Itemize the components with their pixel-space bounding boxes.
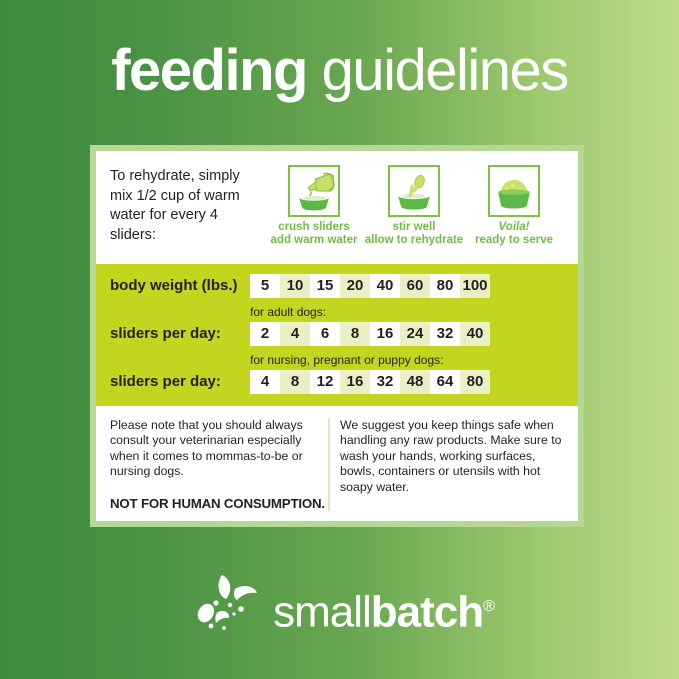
note-left-paragraph: Please note that you should always consu… bbox=[110, 418, 316, 480]
full-food-bowl-icon bbox=[490, 167, 538, 215]
table-cell: 80 bbox=[430, 274, 460, 298]
row-label-sliders-nursing: sliders per day: bbox=[110, 373, 250, 390]
row-label-body-weight: body weight (lbs.) bbox=[110, 277, 250, 294]
step-3-caption: Voila! ready to serve bbox=[464, 221, 564, 247]
notes-section: Please note that you should always consu… bbox=[96, 406, 578, 522]
table-cell: 8 bbox=[340, 322, 370, 346]
table-cell: 24 bbox=[400, 322, 430, 346]
row-label-sliders-adult: sliders per day: bbox=[110, 325, 250, 342]
note-left-emphasis: NOT FOR HUMAN CONSUMPTION. bbox=[110, 496, 316, 512]
step-3-icon-box bbox=[488, 165, 540, 217]
step-crush-sliders: crush sliders add warm water bbox=[264, 165, 364, 247]
step-2-caption: stir well allow to rehydrate bbox=[364, 221, 464, 247]
table-cell: 40 bbox=[370, 274, 400, 298]
table-cell: 4 bbox=[280, 322, 310, 346]
table-cell: 32 bbox=[370, 370, 400, 394]
table-cell: 15 bbox=[310, 274, 340, 298]
table-cell: 4 bbox=[250, 370, 280, 394]
steps-row: crush sliders add warm water bbox=[258, 165, 564, 256]
row-cells-sliders-nursing: 4 8 12 16 32 48 64 80 bbox=[250, 370, 490, 394]
table-cell: 12 bbox=[310, 370, 340, 394]
sublabel-row-nursing: for nursing, pregnant or puppy dogs: bbox=[110, 348, 564, 368]
table-cell: 20 bbox=[340, 274, 370, 298]
table-cell: 48 bbox=[400, 370, 430, 394]
table-cell: 10 bbox=[280, 274, 310, 298]
table-row: sliders per day: 4 8 12 16 32 48 64 80 bbox=[110, 368, 564, 396]
page-title-bold: feeding bbox=[111, 38, 307, 103]
table-row: body weight (lbs.) 5 10 15 20 40 60 80 1… bbox=[110, 272, 564, 300]
step-2-caption-line2: allow to rehydrate bbox=[364, 234, 464, 247]
step-1-caption-line1: crush sliders bbox=[264, 221, 364, 234]
rehydrate-section: To rehydrate, simply mix 1/2 cup of warm… bbox=[96, 151, 578, 264]
table-cell: 2 bbox=[250, 322, 280, 346]
step-2-icon-box bbox=[388, 165, 440, 217]
card-inner: To rehydrate, simply mix 1/2 cup of warm… bbox=[96, 151, 578, 521]
table-cell: 64 bbox=[430, 370, 460, 394]
feeding-guidelines-card: To rehydrate, simply mix 1/2 cup of warm… bbox=[90, 145, 584, 527]
step-3-caption-line1: Voila! bbox=[464, 221, 564, 234]
table-cell: 60 bbox=[400, 274, 430, 298]
table-cell: 16 bbox=[340, 370, 370, 394]
rehydrate-instructions: To rehydrate, simply mix 1/2 cup of warm… bbox=[110, 165, 258, 256]
step-2-caption-line1: stir well bbox=[364, 221, 464, 234]
row-cells-sliders-adult: 2 4 6 8 16 24 32 40 bbox=[250, 322, 490, 346]
notes-divider bbox=[328, 418, 330, 512]
brand-logo: smallbatch® bbox=[0, 565, 679, 641]
table-cell: 40 bbox=[460, 322, 490, 346]
page-title-light: guidelines bbox=[322, 38, 568, 103]
smallbatch-leaf-paw-mark-icon bbox=[185, 565, 271, 641]
note-right-paragraph: We suggest you keep things safe when han… bbox=[340, 418, 564, 496]
note-left-column: Please note that you should always consu… bbox=[110, 418, 328, 512]
table-cell: 5 bbox=[250, 274, 280, 298]
step-1-caption: crush sliders add warm water bbox=[264, 221, 364, 247]
table-cell: 100 bbox=[460, 274, 490, 298]
table-cell: 8 bbox=[280, 370, 310, 394]
brand-word-batch: batch bbox=[371, 588, 483, 637]
note-right-column: We suggest you keep things safe when han… bbox=[340, 418, 564, 512]
table-cell: 16 bbox=[370, 322, 400, 346]
page-title: feeding guidelines bbox=[0, 40, 679, 102]
step-1-icon-box bbox=[288, 165, 340, 217]
sublabel-row-adult: for adult dogs: bbox=[110, 300, 564, 320]
step-ready-to-serve: Voila! ready to serve bbox=[464, 165, 564, 247]
row-cells-body-weight: 5 10 15 20 40 60 80 100 bbox=[250, 274, 490, 298]
table-cell: 80 bbox=[460, 370, 490, 394]
sublabel-nursing-dogs: for nursing, pregnant or puppy dogs: bbox=[250, 353, 443, 368]
table-row: sliders per day: 2 4 6 8 16 24 32 40 bbox=[110, 320, 564, 348]
table-cell: 6 bbox=[310, 322, 340, 346]
watering-can-pouring-into-bowl-icon bbox=[290, 167, 338, 215]
brand-word-small: small bbox=[273, 588, 371, 637]
step-1-caption-line2: add warm water bbox=[264, 234, 364, 247]
spoon-in-bowl-icon bbox=[390, 167, 438, 215]
brand-wordmark: smallbatch® bbox=[273, 585, 494, 641]
feeding-table: body weight (lbs.) 5 10 15 20 40 60 80 1… bbox=[96, 264, 578, 406]
step-stir-well: stir well allow to rehydrate bbox=[364, 165, 464, 247]
table-cell: 32 bbox=[430, 322, 460, 346]
registered-trademark-icon: ® bbox=[483, 598, 494, 615]
sublabel-adult-dogs: for adult dogs: bbox=[250, 305, 326, 320]
step-3-caption-line2: ready to serve bbox=[464, 234, 564, 247]
